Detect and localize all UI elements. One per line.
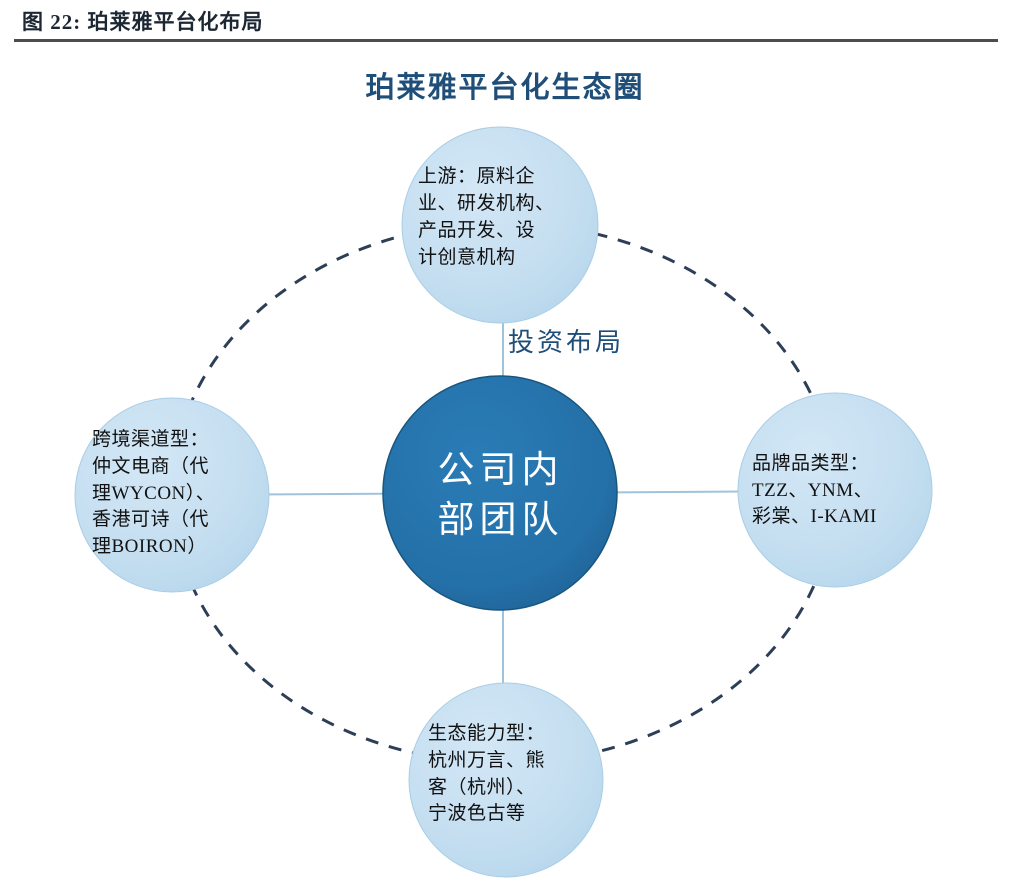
diagram-shapes — [0, 46, 1010, 888]
page-title: 图 22: 珀莱雅平台化布局 — [22, 6, 264, 36]
node-circle-upstream[interactable] — [402, 127, 598, 323]
relationship-label: 投资布局 — [508, 322, 624, 359]
node-circle-brand-category[interactable] — [738, 393, 932, 587]
header-divider — [14, 39, 998, 42]
node-circle-center[interactable] — [383, 376, 617, 610]
node-circle-cross-border-channel[interactable] — [75, 398, 269, 592]
node-circle-ecosystem-capability[interactable] — [409, 683, 603, 877]
diagram-canvas: 珀莱雅平台化生态圈 投资布局 — [0, 46, 1010, 888]
figure-header: 图 22: 珀莱雅平台化布局 — [0, 0, 1010, 46]
